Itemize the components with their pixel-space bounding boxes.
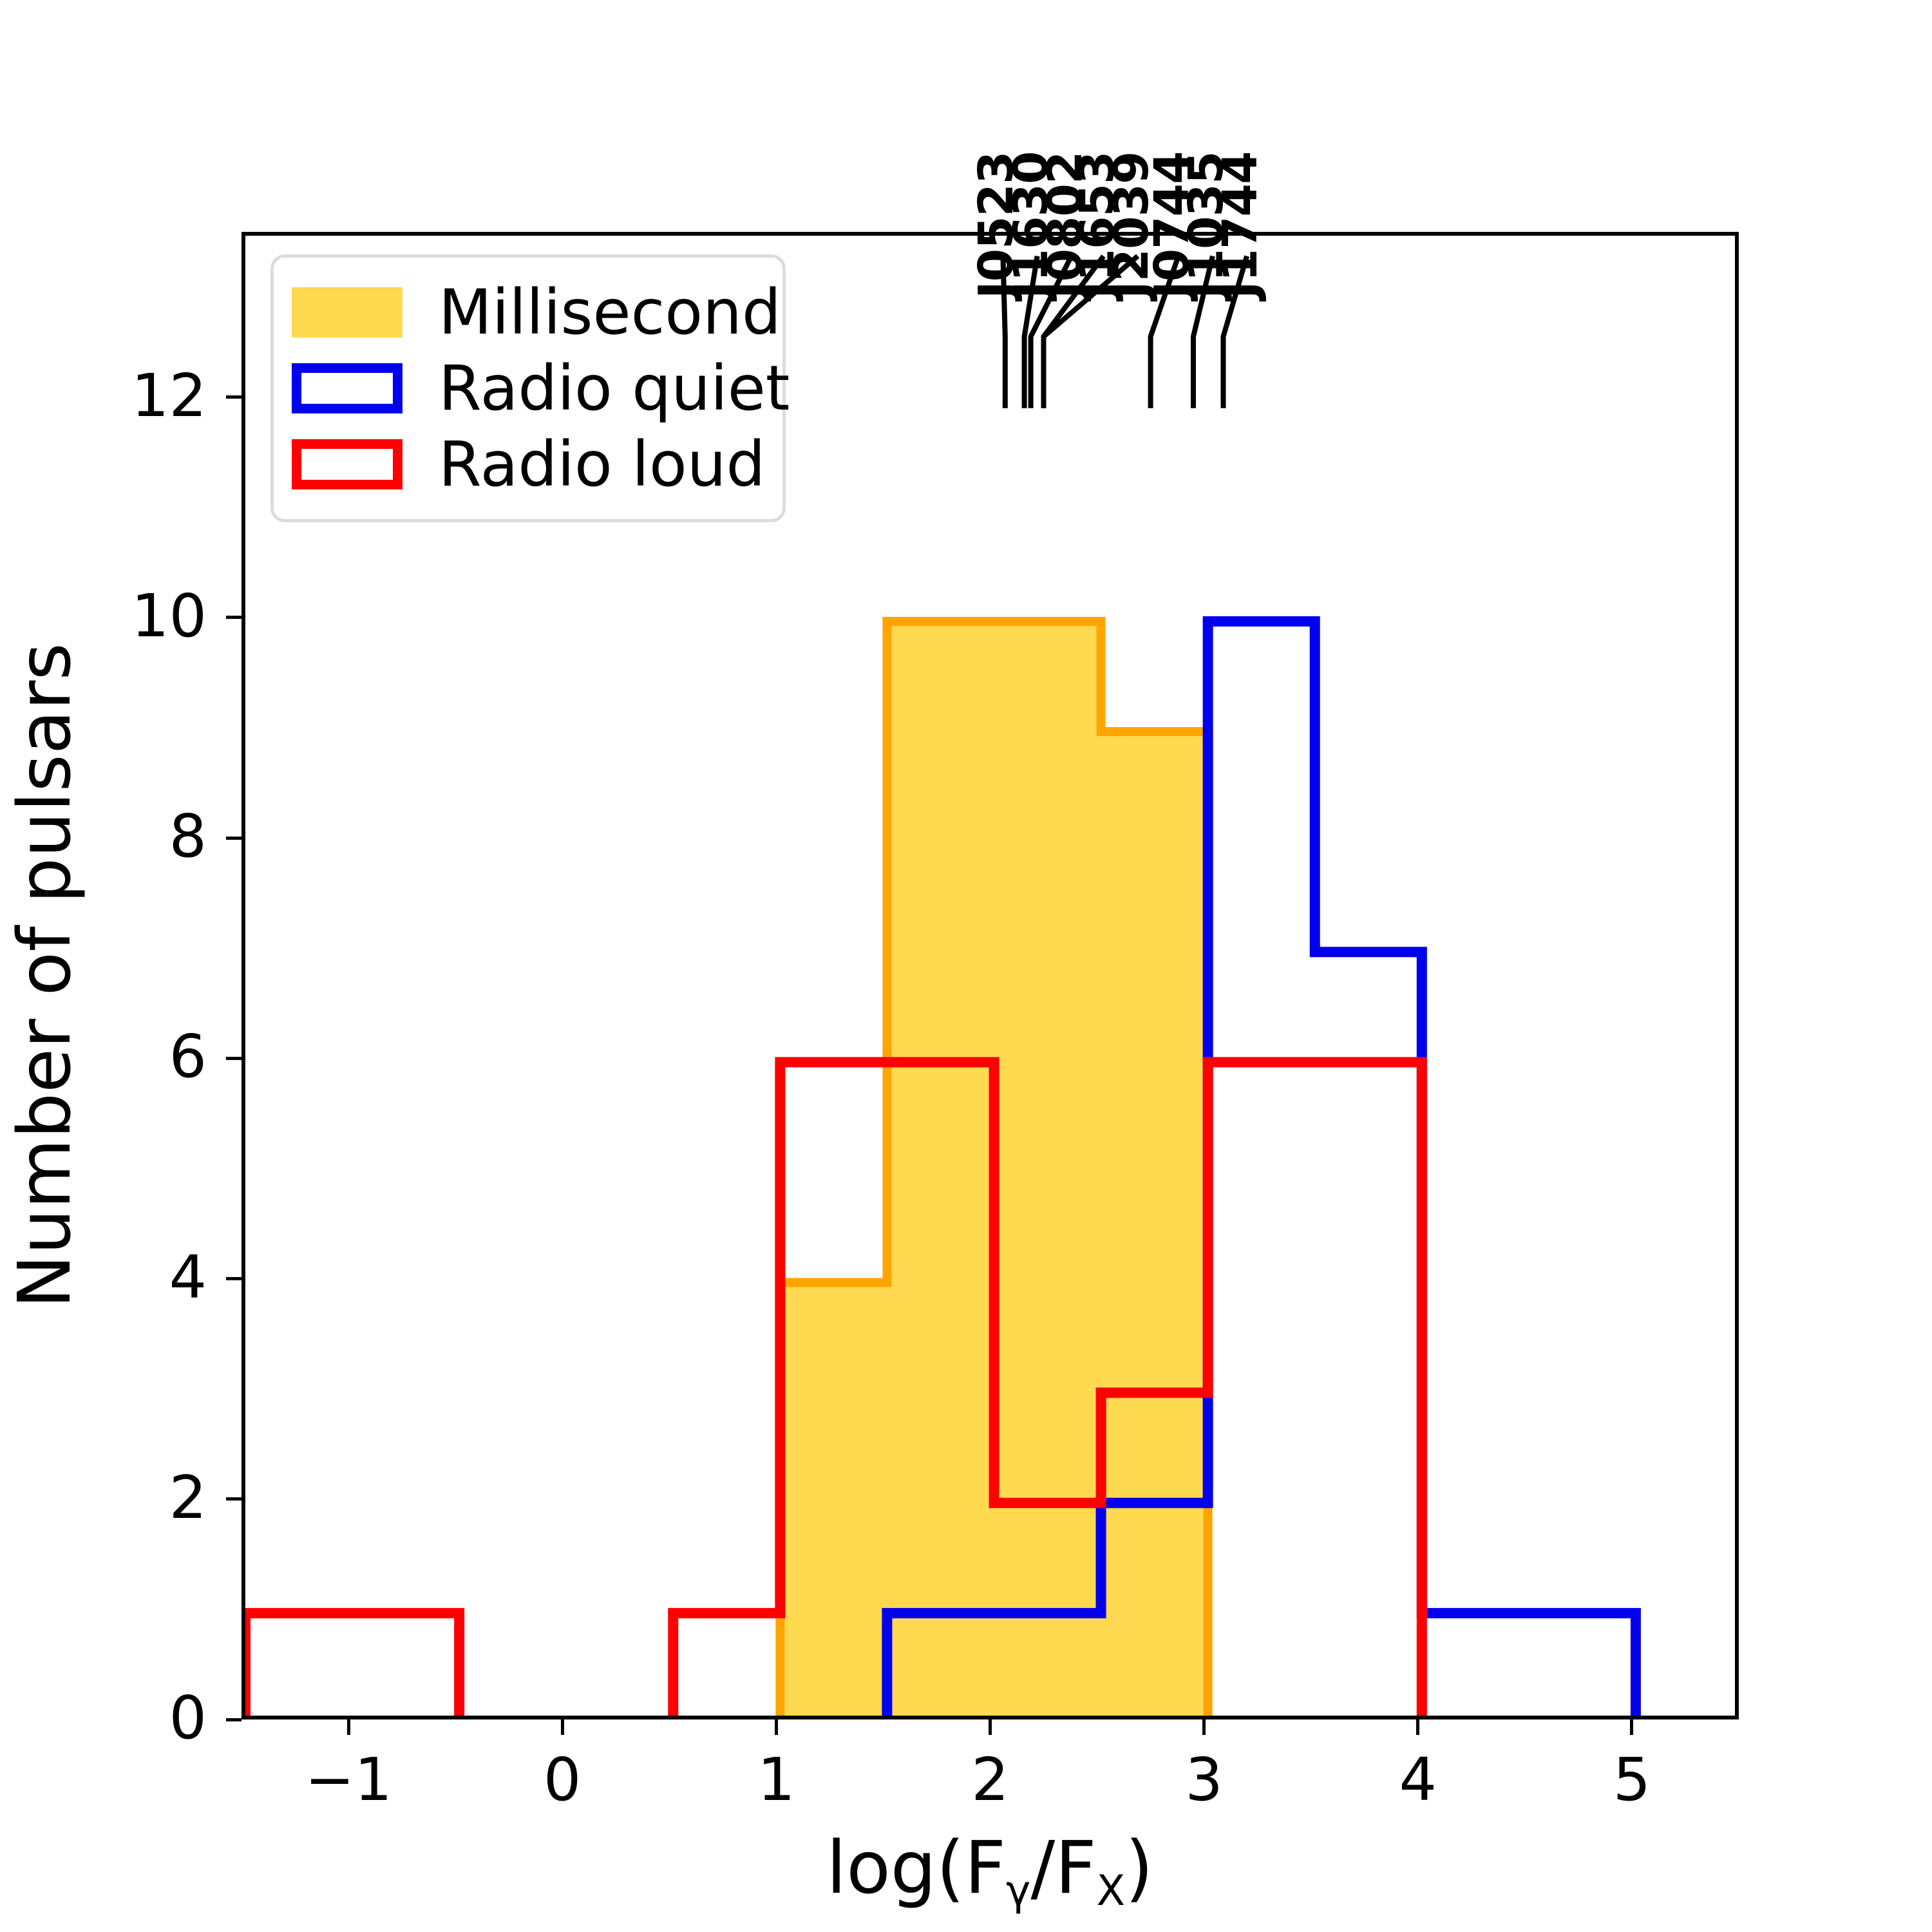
y-tick-mark <box>226 616 241 619</box>
y-tick-label: 6 <box>20 1027 207 1086</box>
x-tick-mark <box>347 1719 350 1735</box>
legend-label-radio-quiet: Radio quiet <box>439 357 790 419</box>
x-tick-label: 4 <box>1354 1750 1482 1810</box>
x-tick-mark <box>561 1719 564 1735</box>
y-tick-label: 0 <box>20 1689 207 1748</box>
y-tick-mark <box>226 1497 241 1501</box>
legend-label-millisecond: Millisecond <box>439 281 781 343</box>
figure-canvas: Number of pulsars log(Fγ/FX) −1012345024… <box>0 0 1932 1932</box>
y-tick-label: 8 <box>20 807 207 866</box>
y-tick-mark <box>226 837 241 840</box>
y-tick-label: 12 <box>20 366 207 426</box>
y-tick-mark <box>226 1277 241 1280</box>
y-axis-title: Number of pulsars <box>3 643 87 1309</box>
legend-swatch-radio-loud <box>292 439 402 489</box>
y-tick-label: 4 <box>20 1248 207 1307</box>
x-tick-label: −1 <box>284 1750 413 1810</box>
x-tick-label: 5 <box>1567 1750 1696 1810</box>
x-tick-mark <box>989 1719 992 1735</box>
x-tick-mark <box>1416 1719 1419 1735</box>
x-axis-title: log(Fγ/FX) <box>826 1826 1153 1915</box>
legend-swatch-radio-quiet <box>292 363 402 413</box>
pulsar-label-j1744: J1744 <box>1217 151 1264 299</box>
x-tick-mark <box>1202 1719 1206 1735</box>
y-tick-mark <box>226 1057 241 1060</box>
x-tick-label: 0 <box>498 1750 627 1810</box>
legend-entry-radio-quiet[interactable]: Radio quiet <box>292 350 763 426</box>
histogram-series-millisecond <box>245 621 1636 1716</box>
y-tick-mark <box>226 1718 241 1721</box>
x-tick-label: 2 <box>926 1750 1055 1810</box>
legend-entry-radio-loud[interactable]: Radio loud <box>292 426 763 502</box>
y-tick-label: 2 <box>20 1468 207 1528</box>
x-tick-label: 3 <box>1140 1750 1269 1810</box>
x-tick-mark <box>775 1719 778 1735</box>
y-tick-label: 10 <box>20 587 207 646</box>
x-tick-mark <box>1630 1719 1633 1735</box>
legend-swatch-millisecond <box>292 287 402 337</box>
legend-entry-millisecond[interactable]: Millisecond <box>292 274 763 350</box>
legend: Millisecond Radio quiet Radio loud <box>270 254 786 522</box>
x-tick-label: 1 <box>712 1750 840 1810</box>
y-tick-mark <box>226 395 241 399</box>
legend-label-radio-loud: Radio loud <box>439 433 765 495</box>
